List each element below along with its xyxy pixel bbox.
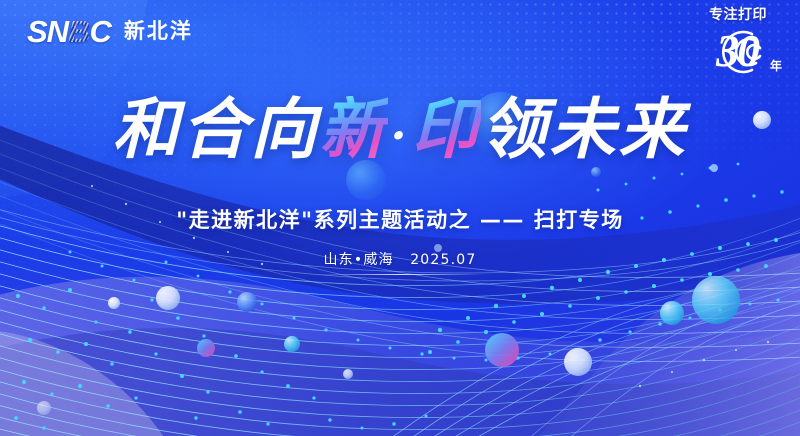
title-part-1: 和合向 bbox=[112, 96, 319, 162]
title-part-new: 新 bbox=[319, 96, 388, 162]
logo-text-b: B bbox=[68, 16, 89, 47]
badge-number-group: 30 年 bbox=[690, 24, 786, 78]
main-title: 和合向新·印领未来 bbox=[0, 96, 800, 162]
meta-underline bbox=[316, 274, 484, 275]
event-banner: SNBC 新北洋 专注打印 30 年 和合向新·印领未来 "走进新北洋"系列主题… bbox=[0, 0, 800, 436]
logo-text-c: C bbox=[89, 14, 110, 49]
badge-tagline: 专注打印 bbox=[690, 8, 786, 22]
title-part-4: 领未来 bbox=[481, 96, 688, 162]
title-part-print: 印 bbox=[412, 96, 481, 162]
subtitle: "走进新北洋"系列主题活动之 —— 扫打专场 bbox=[0, 204, 800, 234]
brand-name-cn: 新北洋 bbox=[124, 21, 193, 42]
event-date: 2025.07 bbox=[404, 252, 482, 273]
title-separator: · bbox=[390, 108, 409, 162]
brand-logo[interactable]: SNBC 新北洋 bbox=[27, 16, 193, 47]
anniversary-badge: 专注打印 30 年 bbox=[690, 8, 786, 84]
logo-text-sn: SN bbox=[27, 14, 68, 49]
badge-unit: 年 bbox=[770, 57, 782, 74]
snbc-wordmark: SNBC bbox=[27, 16, 111, 47]
event-location: 山东•威海 bbox=[317, 249, 399, 274]
event-meta: 山东•威海 2025.07 bbox=[0, 249, 800, 275]
